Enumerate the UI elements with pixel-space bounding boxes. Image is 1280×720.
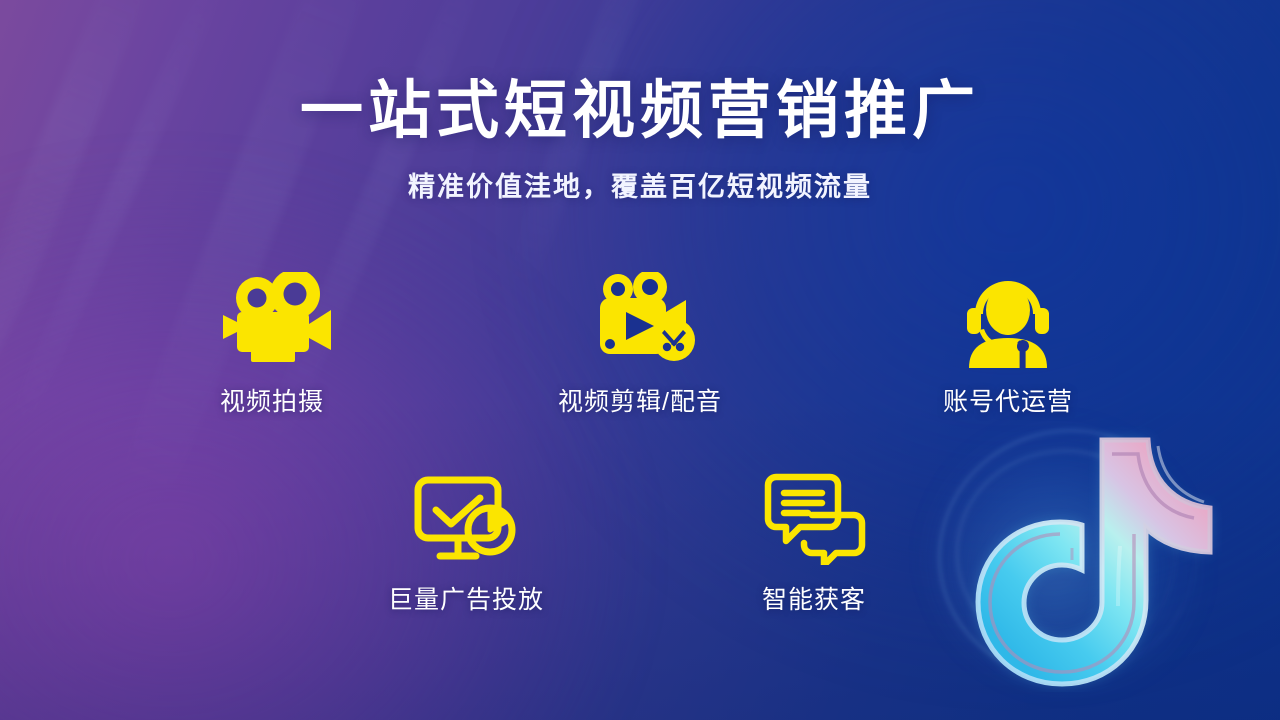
feature-item-smart-acquisition[interactable]: 智能获客	[714, 470, 914, 616]
feature-label: 视频拍摄	[220, 382, 324, 418]
page-title: 一站式短视频营销推广	[0, 78, 1280, 145]
page-subtitle: 精准价值洼地，覆盖百亿短视频流量	[0, 165, 1280, 204]
douyin-logo-area	[922, 404, 1252, 704]
feature-item-account-operation[interactable]: 账号代运营	[908, 272, 1108, 418]
feature-row-1: 视频拍摄	[0, 272, 1280, 418]
feature-label: 视频剪辑/配音	[558, 382, 722, 418]
monitor-check-chart-icon	[410, 470, 522, 566]
chat-bubbles-icon	[760, 470, 868, 566]
movie-camera-icon	[213, 272, 331, 368]
feature-item-video-shooting[interactable]: 视频拍摄	[172, 272, 372, 418]
feature-item-video-editing[interactable]: 视频剪辑/配音	[540, 272, 740, 418]
douyin-music-note-logo	[952, 424, 1222, 692]
promo-poster: 一站式短视频营销推广 精准价值洼地，覆盖百亿短视频流量 视频拍摄	[0, 0, 1280, 720]
feature-label: 智能获客	[762, 580, 866, 616]
feature-label: 巨量广告投放	[388, 580, 544, 616]
video-edit-scissors-icon	[580, 272, 700, 368]
headset-agent-icon	[953, 272, 1063, 368]
headline-block: 一站式短视频营销推广 精准价值洼地，覆盖百亿短视频流量	[0, 78, 1280, 204]
feature-item-ad-placement[interactable]: 巨量广告投放	[366, 470, 566, 616]
